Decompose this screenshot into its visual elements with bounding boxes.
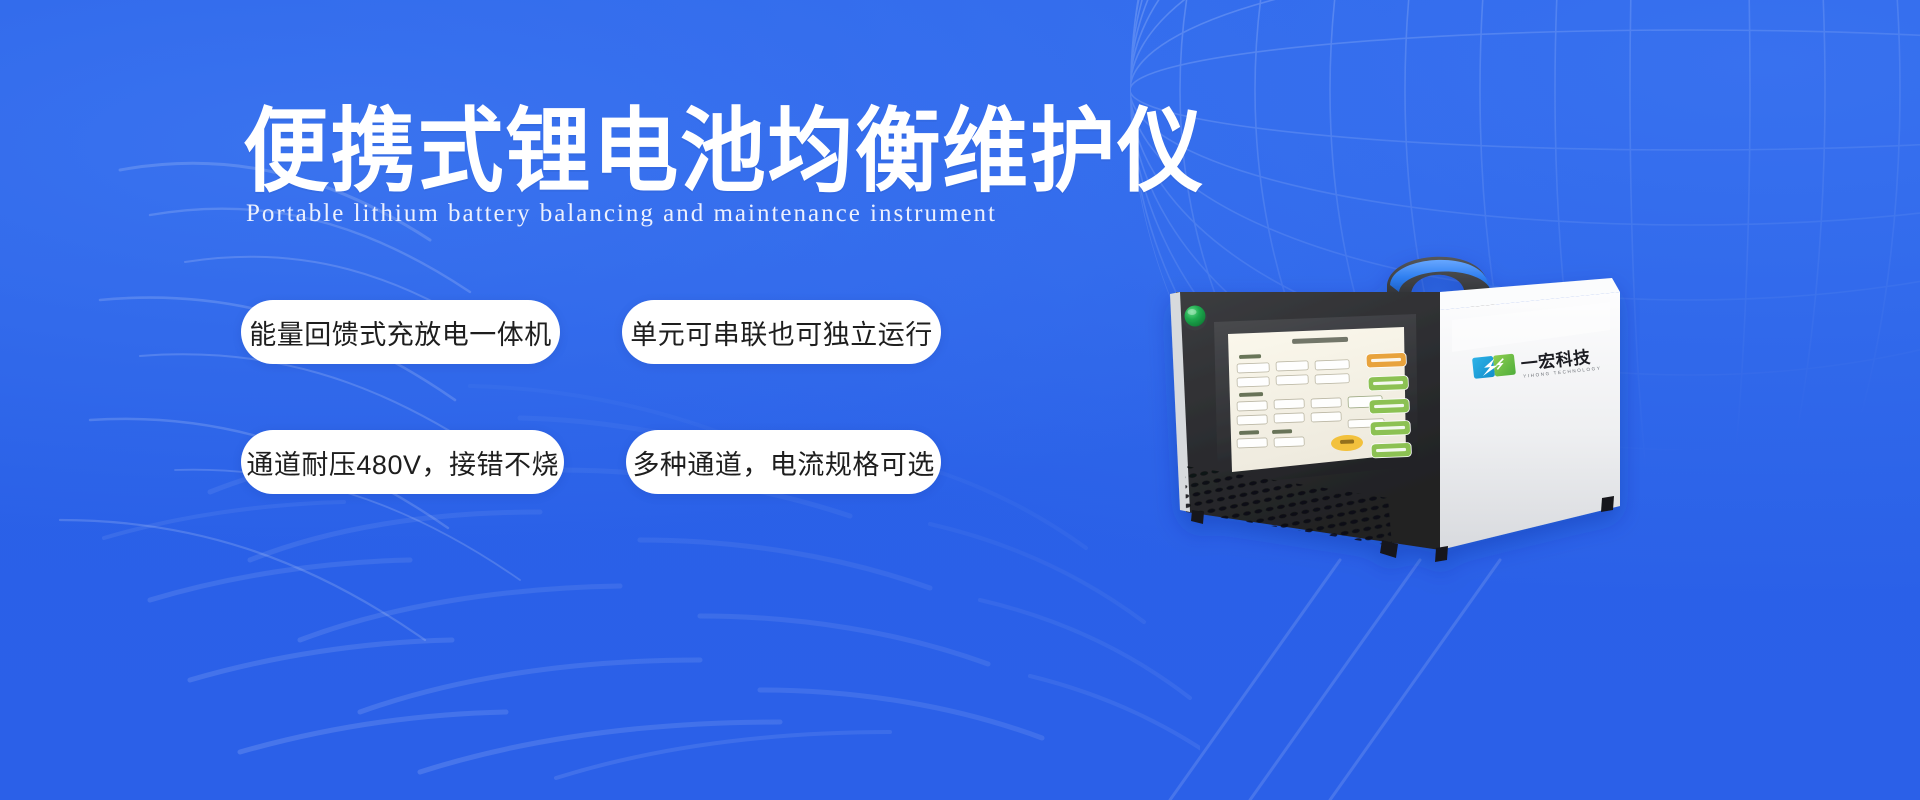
- page-title: 便携式锂电池均衡维护仪: [243, 104, 1205, 200]
- promotional-banner: 便携式锂电池均衡维护仪 Portable lithium battery bal…: [0, 0, 1920, 800]
- feature-pill-2[interactable]: 单元可串联也可独立运行: [622, 300, 941, 364]
- feature-pill-list: 能量回馈式充放电一体机 单元可串联也可独立运行 通道耐压480V，接错不烧 多种…: [241, 300, 941, 494]
- feature-pill-row: 能量回馈式充放电一体机 单元可串联也可独立运行: [241, 300, 941, 364]
- feature-pill-1[interactable]: 能量回馈式充放电一体机: [241, 300, 560, 364]
- feature-pill-row: 通道耐压480V，接错不烧 多种通道，电流规格可选: [241, 430, 941, 494]
- feature-pill-4[interactable]: 多种通道，电流规格可选: [626, 430, 941, 494]
- device-group: 一宏科技 YIHONG TECHNOLOGY: [1170, 257, 1620, 562]
- logo-mark: [1472, 354, 1516, 379]
- banner-content: 便携式锂电池均衡维护仪 Portable lithium battery bal…: [0, 0, 1160, 800]
- power-button[interactable]: [1183, 306, 1208, 331]
- page-subtitle: Portable lithium battery balancing and m…: [246, 198, 997, 230]
- product-device-image: 一宏科技 YIHONG TECHNOLOGY: [1140, 230, 1640, 630]
- feature-pill-3[interactable]: 通道耐压480V，接错不烧: [241, 430, 564, 494]
